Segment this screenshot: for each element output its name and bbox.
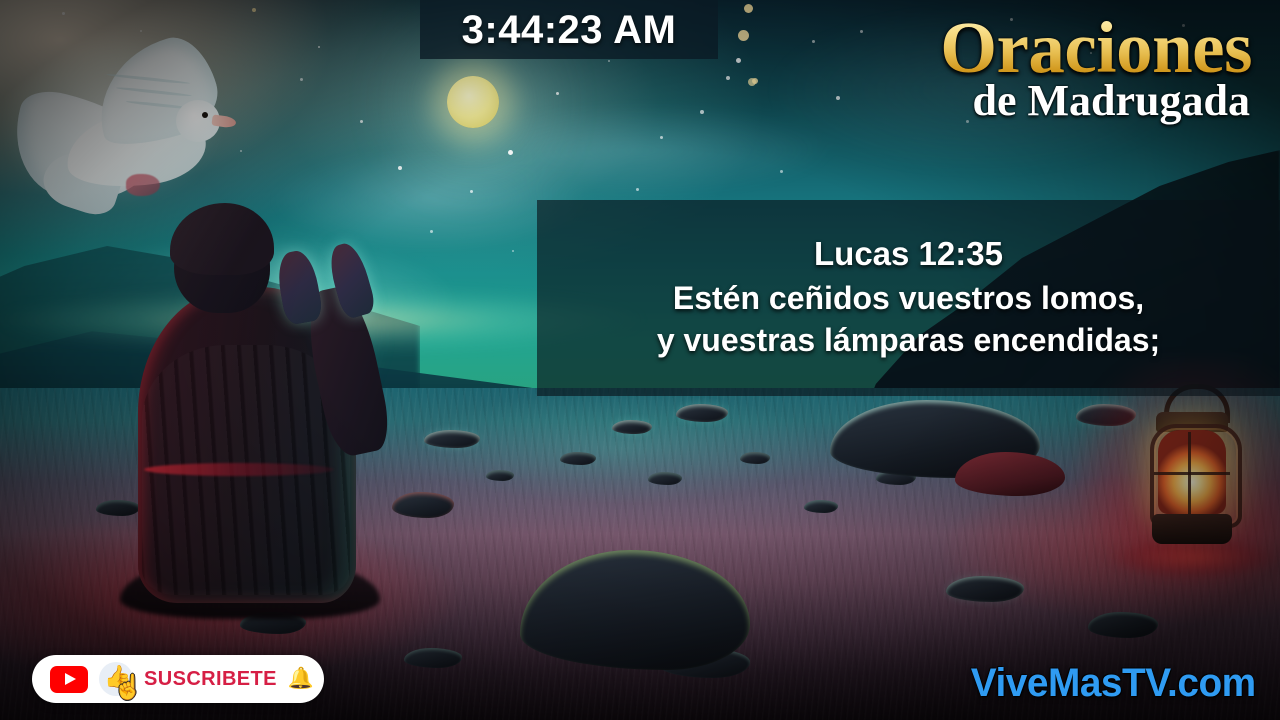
- brand-title: Oraciones: [940, 14, 1252, 83]
- subscribe-button[interactable]: 👍 ☝ SUSCRIBETE 🔔: [32, 655, 324, 703]
- verse-panel: Lucas 12:35 Estén ceñidos vuestros lomos…: [537, 200, 1280, 396]
- figure-belt: [144, 463, 334, 476]
- verse-line-1: Estén ceñidos vuestros lomos,: [673, 277, 1144, 319]
- hand-cursor-icon: ☝: [113, 676, 143, 700]
- lantern-base: [1152, 514, 1232, 544]
- bell-icon[interactable]: 🔔: [288, 667, 314, 691]
- clock-panel: 3:44:23 AM: [420, 0, 718, 59]
- dove-eye: [202, 112, 208, 118]
- subscribe-label: SUSCRIBETE: [144, 668, 277, 691]
- clock-time: 3:44:23 AM: [462, 10, 677, 50]
- channel-branding: Oraciones de Madrugada: [940, 14, 1252, 123]
- site-watermark: ViveMasTV.com: [971, 661, 1256, 706]
- video-frame: 3:44:23 AM Oraciones de Madrugada Lucas …: [0, 0, 1280, 720]
- youtube-play-icon[interactable]: [50, 666, 88, 693]
- verse-line-2: y vuestras lámparas encendidas;: [657, 319, 1160, 361]
- thumbs-up-icon[interactable]: 👍 ☝: [99, 662, 133, 696]
- praying-figure: [120, 195, 440, 625]
- dove-feet: [126, 174, 160, 196]
- dove-illustration: [8, 38, 238, 228]
- lantern-frame: [1150, 424, 1242, 528]
- lantern-illustration: [1136, 388, 1248, 563]
- verse-reference: Lucas 12:35: [814, 235, 1003, 273]
